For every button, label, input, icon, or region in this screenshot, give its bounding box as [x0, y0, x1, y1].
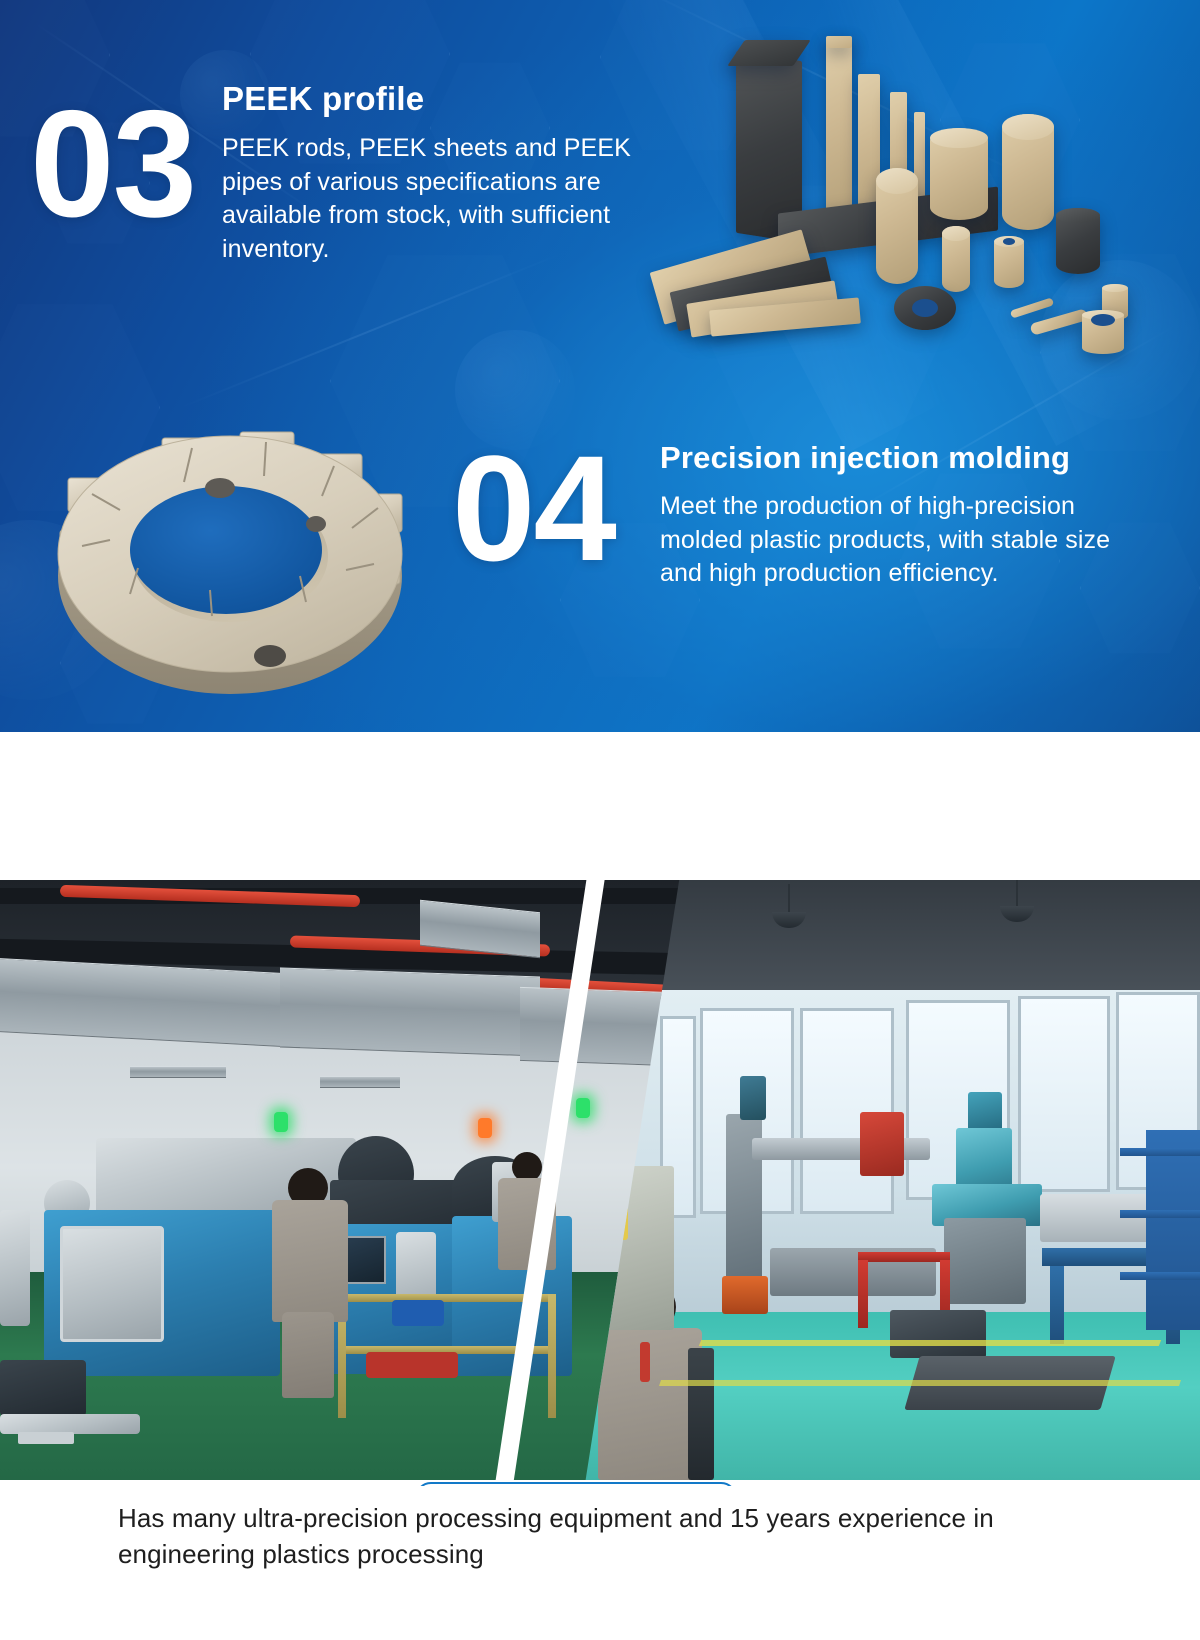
footer-caption: Has many ultra-precision processing equi…: [0, 1486, 1200, 1640]
feature-number-04: 04: [452, 442, 615, 574]
feature-block-04: 04 Precision injection molding Meet the …: [452, 440, 1152, 591]
feature-block-03: 03 PEEK profile PEEK rods, PEEK sheets a…: [30, 80, 650, 266]
strengths-banner: Our strengths: [0, 732, 1200, 880]
peek-profiles-image: [618, 18, 1178, 368]
feature-number-03: 03: [30, 98, 195, 232]
caption-text: Has many ultra-precision processing equi…: [118, 1500, 1082, 1573]
hero-section: 03 PEEK profile PEEK rods, PEEK sheets a…: [0, 0, 1200, 732]
feature-title-04: Precision injection molding: [660, 440, 1152, 476]
feature-body-03: PEEK rods, PEEK sheets and PEEK pipes of…: [222, 132, 650, 266]
product-feature-page: 03 PEEK profile PEEK rods, PEEK sheets a…: [0, 0, 1200, 1640]
peek-gear-ring-image: [34, 404, 426, 700]
workshop-photo-strip: 模具车间 Mold Workshop: [0, 880, 1200, 1480]
feature-body-04: Meet the production of high-precision mo…: [660, 490, 1152, 591]
gear-ring-svg: [34, 404, 426, 700]
feature-title-03: PEEK profile: [222, 80, 650, 118]
